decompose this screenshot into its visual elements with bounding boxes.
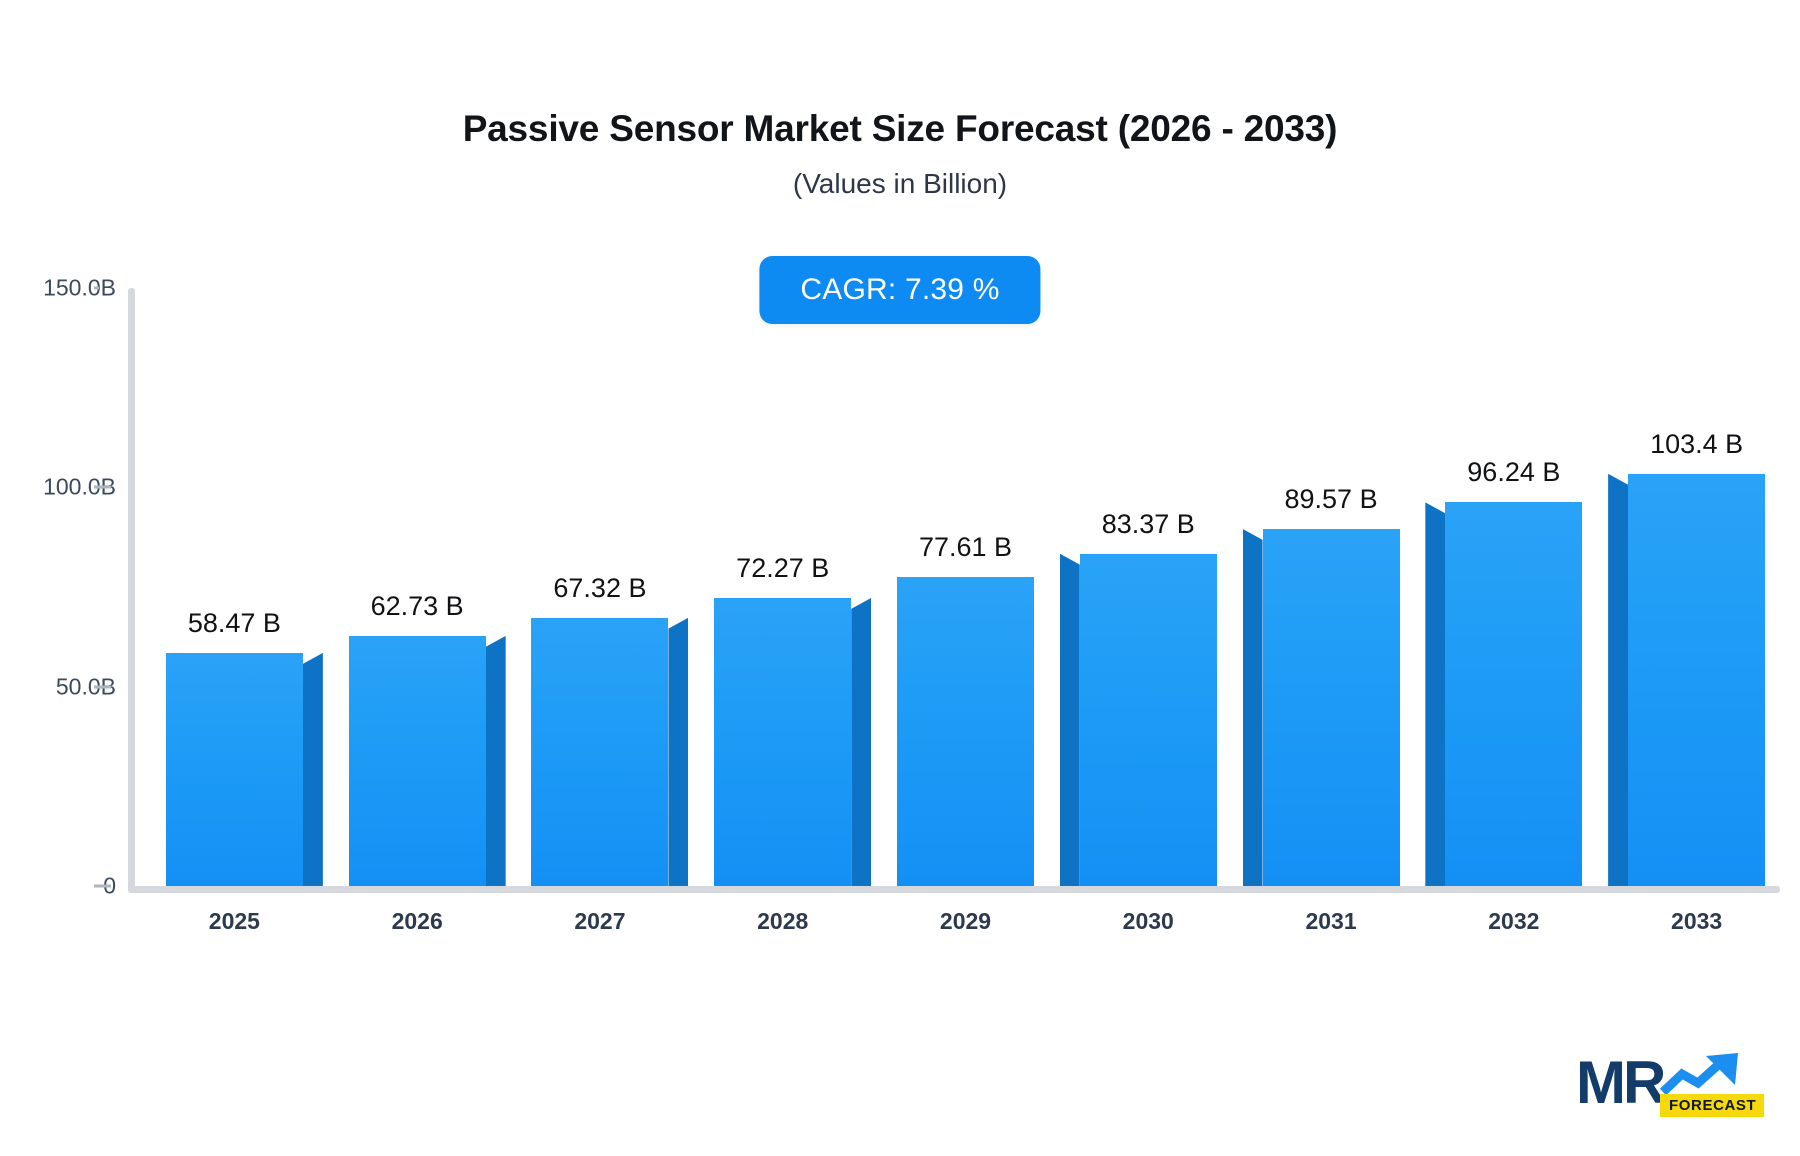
bar-front-face: [1263, 529, 1400, 886]
bar-side-face: [486, 636, 506, 886]
bar-value-label: 96.24 B: [1467, 457, 1560, 488]
plot-area: 050.0B100.0B150.0B 58.47 B62.73 B67.32 B…: [128, 288, 1788, 893]
bar-2033[interactable]: 103.4 B: [1608, 288, 1785, 886]
bars-layer: 58.47 B62.73 B67.32 B72.27 B77.61 B83.37…: [135, 288, 1788, 886]
x-tick-label-2033: 2033: [1671, 908, 1722, 935]
page-title: Passive Sensor Market Size Forecast (202…: [0, 108, 1800, 150]
bar-value-label: 62.73 B: [371, 591, 464, 622]
bar-value-label: 83.37 B: [1102, 509, 1195, 540]
chart-page: Passive Sensor Market Size Forecast (202…: [0, 0, 1800, 1156]
bar-front-face: [714, 598, 851, 886]
bar-2029[interactable]: 77.61 B: [877, 288, 1054, 886]
x-tick-label-2031: 2031: [1305, 908, 1356, 935]
logo-badge-text: FORECAST: [1660, 1094, 1764, 1117]
y-tick-mark: [94, 287, 99, 290]
bar-front-face: [1080, 554, 1217, 886]
mr-forecast-logo: MR FORECAST: [1576, 1048, 1752, 1128]
bar-front-face: [897, 577, 1034, 886]
x-tick-label-2025: 2025: [209, 908, 260, 935]
y-tick-mark: [94, 685, 111, 688]
bar-2026[interactable]: 62.73 B: [329, 288, 506, 886]
bar-2027[interactable]: 67.32 B: [511, 288, 688, 886]
logo-mark: MR: [1576, 1052, 1663, 1114]
bar-side-face: [851, 598, 871, 886]
x-tick-label-2027: 2027: [574, 908, 625, 935]
bar-side-face: [1243, 529, 1263, 886]
bar-front-face: [1628, 474, 1765, 886]
y-tick-mark: [94, 885, 111, 888]
bar-side-face: [303, 653, 323, 886]
bar-2025[interactable]: 58.47 B: [146, 288, 323, 886]
bar-front-face: [166, 653, 303, 886]
bar-2031[interactable]: 89.57 B: [1243, 288, 1420, 886]
x-axis-line: [128, 886, 1780, 893]
bar-value-label: 67.32 B: [553, 573, 646, 604]
x-tick-label-2029: 2029: [940, 908, 991, 935]
bar-2030[interactable]: 83.37 B: [1060, 288, 1237, 886]
bar-2028[interactable]: 72.27 B: [694, 288, 871, 886]
bar-value-label: 89.57 B: [1285, 484, 1378, 515]
x-tick-label-2030: 2030: [1123, 908, 1174, 935]
x-tick-label-2032: 2032: [1488, 908, 1539, 935]
y-tick-mark: [94, 486, 111, 489]
bar-value-label: 72.27 B: [736, 553, 829, 584]
bar-value-label: 103.4 B: [1650, 429, 1743, 460]
bar-side-face: [1608, 474, 1628, 886]
bar-value-label: 58.47 B: [188, 608, 281, 639]
y-axis-line: [128, 288, 135, 893]
bar-side-face: [1425, 502, 1445, 886]
x-tick-label-2026: 2026: [392, 908, 443, 935]
bar-2032[interactable]: 96.24 B: [1425, 288, 1602, 886]
bar-front-face: [531, 618, 668, 886]
bar-front-face: [1445, 502, 1582, 886]
x-tick-label-2028: 2028: [757, 908, 808, 935]
y-tick-label: 150.0B: [6, 275, 116, 302]
bar-side-face: [1060, 554, 1080, 886]
trend-arrow-icon: [1660, 1050, 1752, 1098]
bar-front-face: [349, 636, 486, 886]
bar-value-label: 77.61 B: [919, 532, 1012, 563]
bar-side-face: [668, 618, 688, 886]
chart-subtitle: (Values in Billion): [0, 168, 1800, 200]
